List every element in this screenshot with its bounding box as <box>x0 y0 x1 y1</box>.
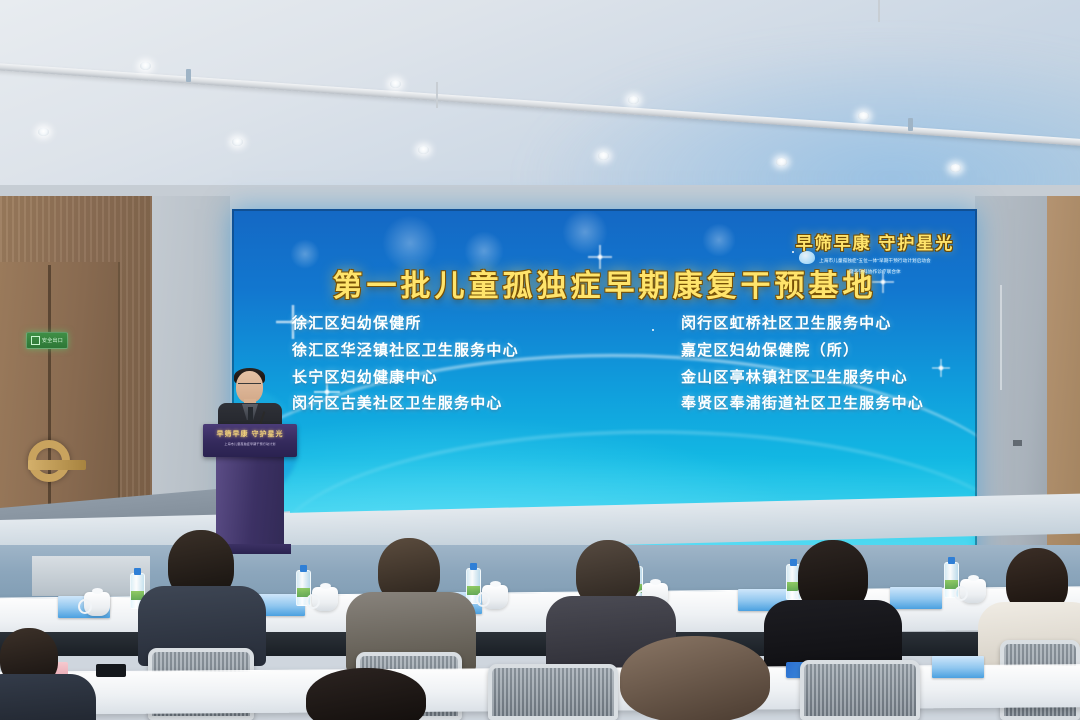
slide-list-item: 闵行区虹桥社区卫生服务中心 <box>681 313 892 336</box>
audience-person <box>142 530 262 660</box>
event-logo-subtitle-2: 暨多学科协作诊疗联合体 <box>789 269 961 276</box>
audience-chair <box>488 664 618 720</box>
screen-bokeh <box>702 223 736 257</box>
teacup <box>312 587 338 611</box>
audience-person <box>352 538 470 666</box>
ceiling-downlight <box>950 164 961 172</box>
wall-outlet <box>1013 440 1022 446</box>
ceiling-hanger <box>436 82 438 108</box>
speaker-glasses-icon <box>238 383 261 389</box>
audience-person-foreground <box>600 636 790 720</box>
event-logo-title: 早筛早康 守护星光 <box>789 229 961 254</box>
name-card <box>890 587 942 609</box>
slide-list-item: 金山区亭林镇社区卫生服务中心 <box>681 367 908 390</box>
audience-person-foreground <box>296 668 446 720</box>
exit-sign: 安全出口 <box>26 332 68 349</box>
ceiling-downlight <box>390 80 401 88</box>
slide-column-right: 闵行区虹桥社区卫生服务中心 嘉定区妇幼保健院（所） 金山区亭林镇社区卫生服务中心… <box>681 313 924 416</box>
teacup <box>482 585 508 609</box>
slide-list-item: 徐汇区妇幼保健所 <box>292 313 519 336</box>
podium-panel: 早筛早康 守护星光 上海市儿童孤独症早期干预行动计划 <box>203 424 297 457</box>
slide-list-item: 嘉定区妇幼保健院（所） <box>681 340 859 363</box>
conference-hall-photo: 安全出口 第一批儿童孤独症早期康复干预基地 徐汇区妇幼保健所 <box>0 0 1080 720</box>
slide-institution-columns: 徐汇区妇幼保健所 徐汇区华泾镇社区卫生服务中心 长宁区妇幼健康中心 闵行区古美社… <box>292 313 924 416</box>
mobile-phone <box>96 664 126 677</box>
podium-logo-title: 早筛早康 守护星光 <box>203 429 297 439</box>
slide-column-left: 徐汇区妇幼保健所 徐汇区华泾镇社区卫生服务中心 长宁区妇幼健康中心 闵行区古美社… <box>292 313 519 416</box>
teacup <box>84 592 110 616</box>
audience-head <box>306 668 426 720</box>
ceiling-downlight <box>858 112 869 120</box>
name-card <box>932 656 984 678</box>
audience-head <box>620 636 770 720</box>
wall-seam <box>1000 285 1002 390</box>
event-logo-mark-icon <box>799 251 815 264</box>
ceiling-track-stub <box>908 118 913 131</box>
door-seam <box>48 265 51 543</box>
ceiling-downlight <box>140 62 151 70</box>
exit-person-icon <box>31 336 40 345</box>
podium-logo-subtitle: 上海市儿童孤独症早期干预行动计划 <box>203 442 297 446</box>
ceiling-downlight <box>232 138 243 146</box>
slide-list-item: 长宁区妇幼健康中心 <box>292 367 519 390</box>
audience-chair <box>800 660 920 720</box>
event-logo: 早筛早康 守护星光 上海市儿童孤独症"五位一体"早期干预行动计划启动会 暨多学科… <box>789 229 961 275</box>
ceiling-downlight <box>628 96 639 104</box>
slide-list-item: 徐汇区华泾镇社区卫生服务中心 <box>292 340 519 363</box>
screen-sparkle <box>932 359 950 377</box>
speaker-tie <box>248 407 253 420</box>
ceiling-downlight <box>598 152 609 160</box>
teacup <box>960 579 986 603</box>
audience-person <box>772 540 896 670</box>
audience-person-foreground <box>0 628 96 720</box>
audience-torso <box>0 674 96 720</box>
wall-panel-right <box>975 196 1047 596</box>
ceiling-downlight <box>418 146 429 154</box>
ceiling-downlight <box>776 158 787 166</box>
ceiling-track-stub <box>186 69 191 82</box>
ceiling-hanger <box>878 0 880 22</box>
exit-sign-label: 安全出口 <box>42 337 63 344</box>
ceiling-downlight <box>38 128 49 136</box>
door-handle-icon[interactable] <box>28 440 70 482</box>
slide-list-item: 奉贤区奉浦街道社区卫生服务中心 <box>681 393 924 416</box>
slide-list-item: 闵行区古美社区卫生服务中心 <box>292 393 519 416</box>
